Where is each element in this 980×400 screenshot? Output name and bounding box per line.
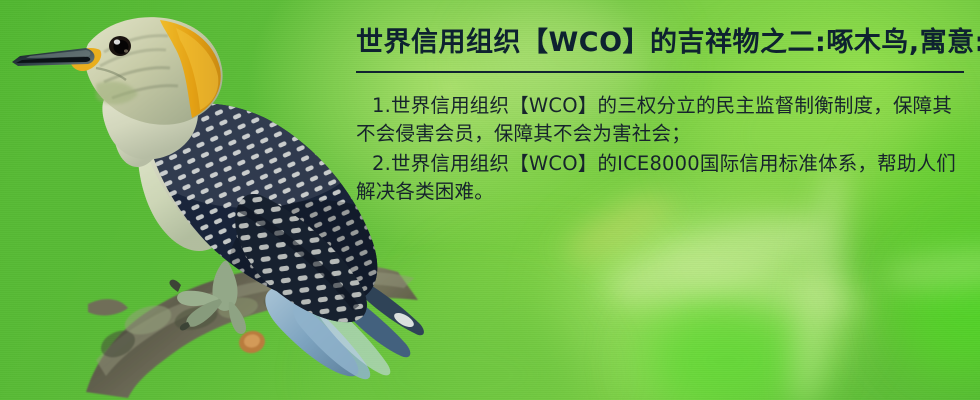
mascot-meaning-list: 1.世界信用组织【WCO】的三权分立的民主监督制衡制度，保障其不会侵害会员，保障… [356, 92, 970, 206]
title-divider [356, 71, 964, 73]
list-item: 2.世界信用组织【WCO】的ICE8000国际信用标准体系，帮助人们解决各类困难… [356, 150, 970, 206]
text-column: 世界信用组织【WCO】的吉祥物之二:啄木鸟,寓意: 1.世界信用组织【WCO】的… [356, 26, 970, 206]
page-title: 世界信用组织【WCO】的吉祥物之二:啄木鸟,寓意: [356, 26, 970, 60]
list-item: 1.世界信用组织【WCO】的三权分立的民主监督制衡制度，保障其不会侵害会员，保障… [356, 92, 970, 148]
mascot-banner: 世界信用组织【WCO】的吉祥物之二:啄木鸟,寓意: 1.世界信用组织【WCO】的… [0, 0, 980, 400]
